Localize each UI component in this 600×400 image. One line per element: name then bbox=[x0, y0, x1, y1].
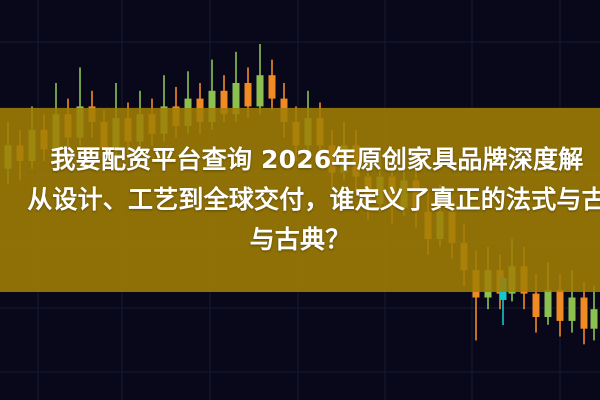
banner-image: 我要配资平台查询 2026年原创家具品牌深度解 从设计、工艺到全球交付，谁定义了… bbox=[0, 0, 600, 400]
banner-headline: 我要配资平台查询 2026年原创家具品牌深度解 从设计、工艺到全球交付，谁定义了… bbox=[0, 108, 600, 292]
headline-line-3: 与古典？ bbox=[250, 220, 351, 260]
headline-line-1: 我要配资平台查询 2026年原创家具品牌深度解 bbox=[51, 140, 584, 180]
headline-line-2: 从设计、工艺到全球交付，谁定义了真正的法式与古 bbox=[27, 180, 600, 220]
